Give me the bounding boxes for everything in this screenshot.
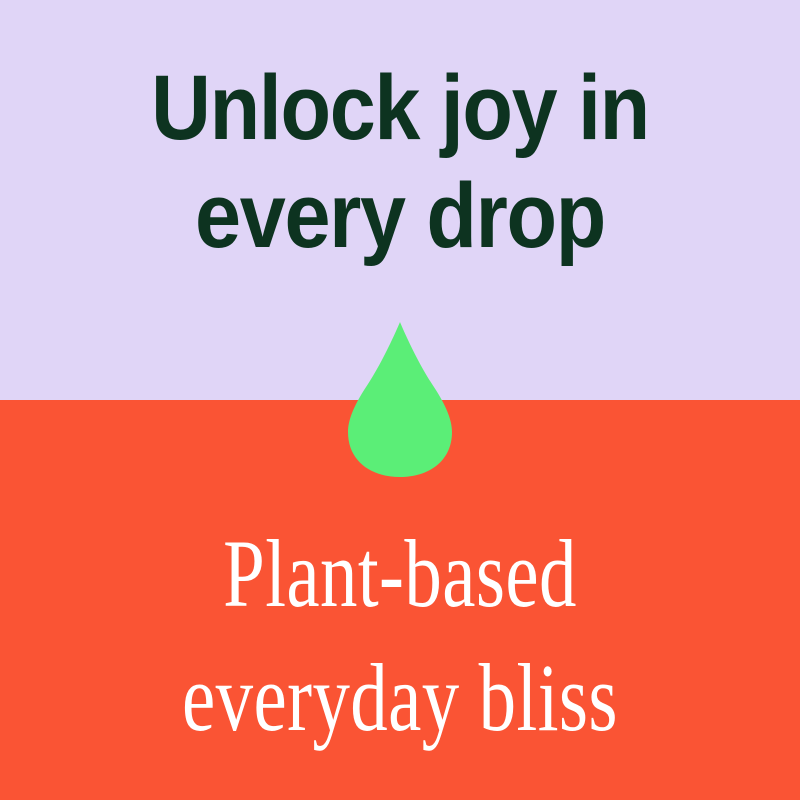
subline: Plant-based everyday bliss	[88, 512, 712, 760]
headline-line-1: Unlock joy in	[40, 54, 760, 162]
subline-line-1: Plant-based	[88, 512, 712, 636]
poster-canvas: Unlock joy in every drop Plant-based eve…	[0, 0, 800, 800]
subline-line-2: everyday bliss	[88, 636, 712, 760]
headline: Unlock joy in every drop	[40, 54, 760, 270]
headline-line-2: every drop	[40, 162, 760, 270]
